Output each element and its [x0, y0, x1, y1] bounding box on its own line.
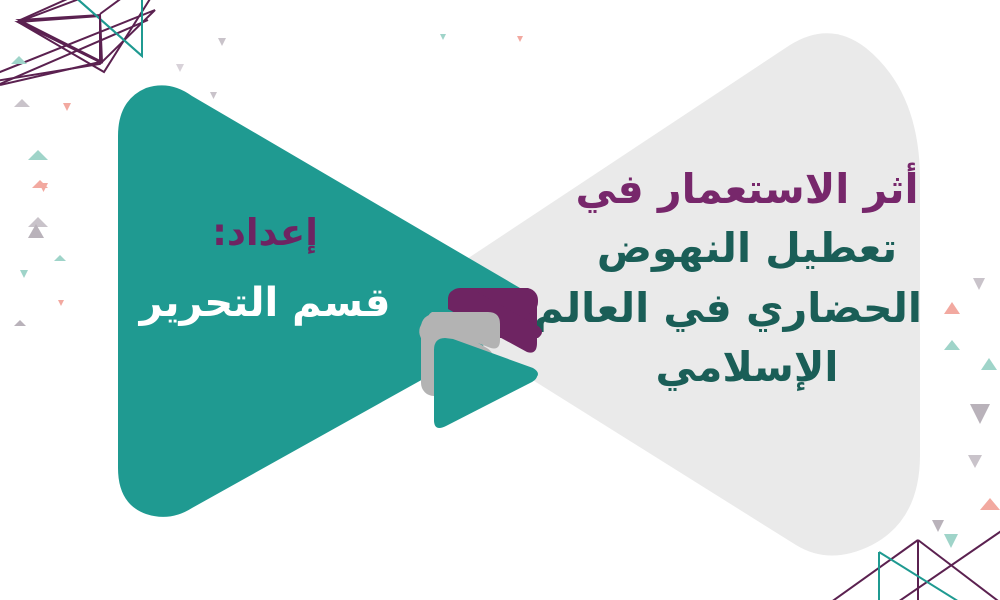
- logo-teal-arrow-shape: [434, 338, 538, 426]
- brand-logo: [0, 0, 1000, 600]
- poster-canvas: أثر الاستعمار في تعطيل النهوض الحضاري في…: [0, 0, 1000, 600]
